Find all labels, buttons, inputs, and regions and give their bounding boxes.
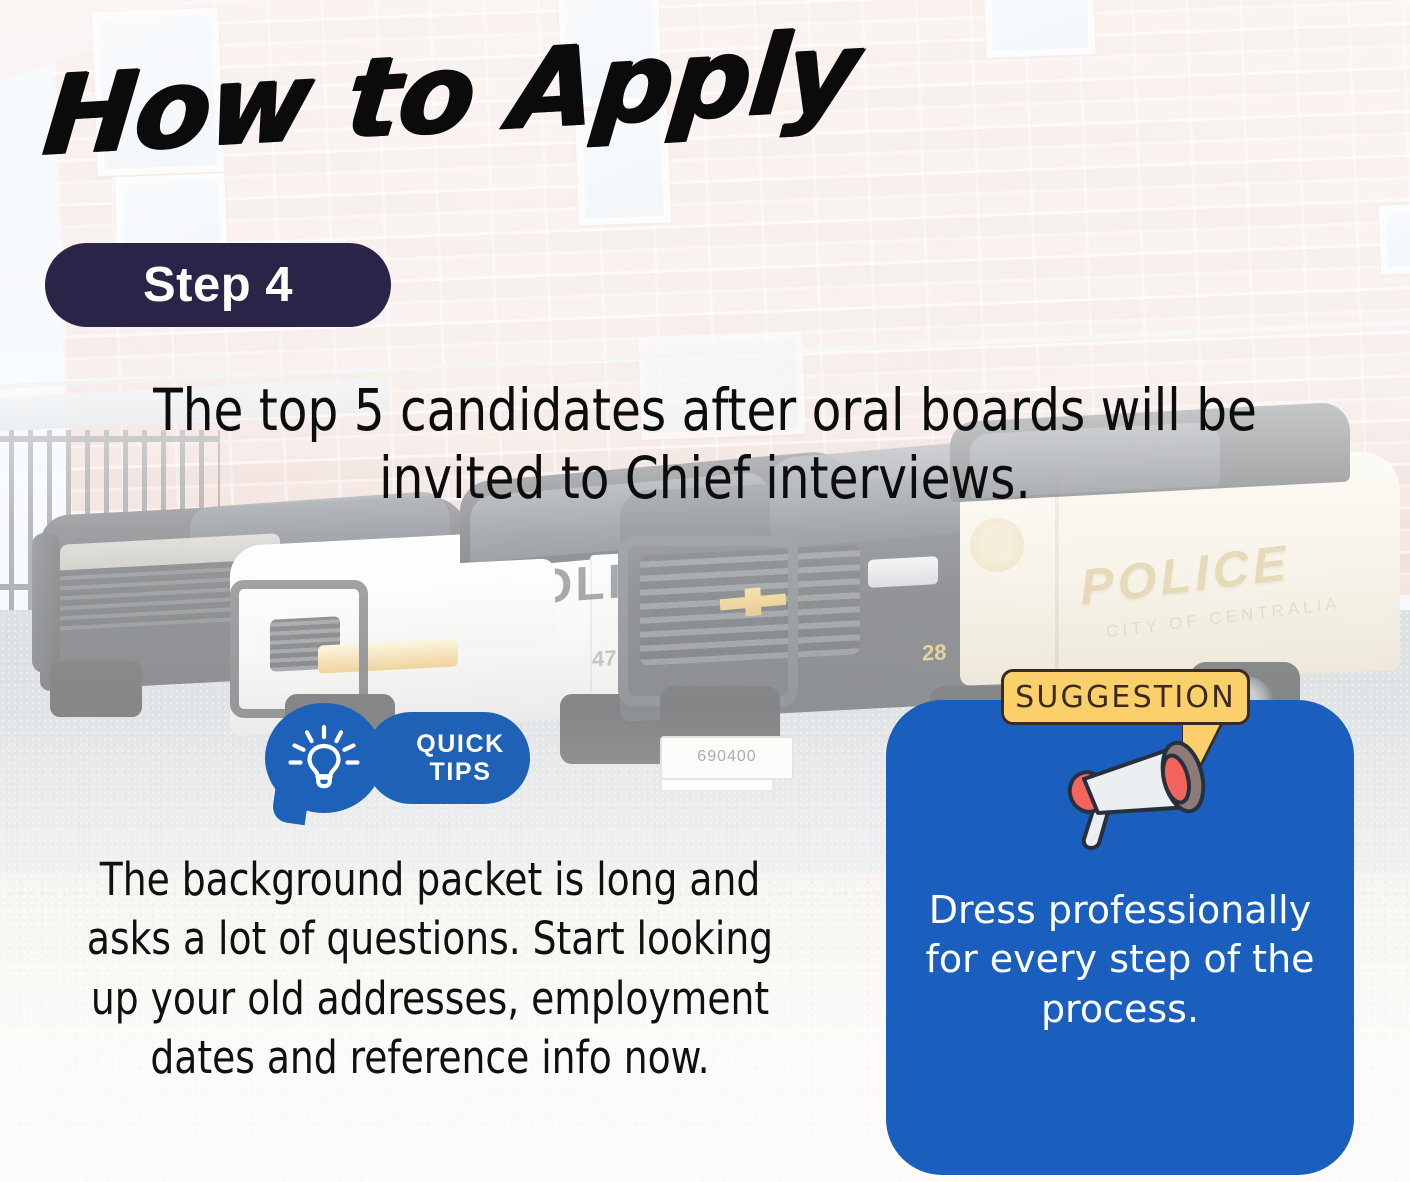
quick-tips-label-line1: QUICK xyxy=(416,730,505,758)
headline-text: The top 5 candidates after oral boards w… xyxy=(87,376,1324,513)
quick-tips-badge: QUICK TIPS xyxy=(265,703,530,813)
suggestion-label-bubble: SUGGESTION xyxy=(1001,669,1250,725)
step-badge-label: Step 4 xyxy=(143,257,293,313)
suggestion-label: SUGGESTION xyxy=(1015,680,1236,715)
poster-canvas: 21 POLICE 47 690400 xyxy=(0,0,1410,1182)
page-title: How to Apply xyxy=(39,15,863,171)
lightbulb-icon xyxy=(287,722,361,796)
quick-tips-label-line2: TIPS xyxy=(430,758,492,786)
suggestion-body: Dress professionally for every step of t… xyxy=(906,886,1334,1034)
megaphone-icon xyxy=(1058,735,1226,855)
quick-tips-body: The background packet is long and asks a… xyxy=(67,850,792,1088)
step-badge: Step 4 xyxy=(45,243,391,327)
quick-tips-pill: QUICK TIPS xyxy=(365,712,530,804)
